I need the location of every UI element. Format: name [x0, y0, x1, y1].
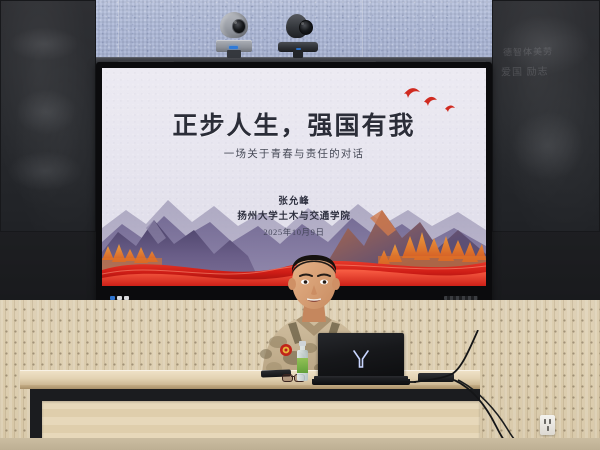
camera-mount-arm	[227, 50, 241, 58]
uniform-badge	[280, 344, 292, 356]
lecture-hall-scene: 德智体美劳 爱国 励志	[0, 0, 600, 450]
left-blackboard	[0, 0, 96, 232]
floor-strip	[0, 438, 600, 450]
slide-subtitle: 一场关于青春与责任的对话	[102, 146, 486, 161]
chalk-smudge	[511, 111, 585, 181]
chalk-line: 爱国 励志	[501, 63, 549, 79]
slide-affiliation: 扬州大学土木与交通学院	[102, 208, 486, 222]
camera-head	[286, 14, 308, 38]
chalk-smudge	[7, 151, 83, 191]
lens-glint	[234, 21, 237, 24]
camera-head	[220, 12, 248, 38]
outlet-slot	[544, 419, 546, 424]
slide-date: 2025年10月9日	[102, 226, 486, 238]
chalk-smudge	[9, 27, 79, 61]
wall-panel-seam	[362, 0, 363, 57]
wall-panel-seam	[118, 0, 119, 57]
outlet-slot	[547, 426, 549, 431]
slide-speaker-name: 张允峰	[102, 193, 486, 207]
black-ptz-camera[interactable]	[278, 14, 318, 58]
camera-mount-arm	[293, 50, 303, 58]
slide-title: 正步人生，强国有我	[102, 106, 486, 142]
wall-outlet[interactable]	[540, 415, 555, 435]
laptop[interactable]	[314, 333, 408, 387]
chalk-line: 德智体美劳	[503, 44, 553, 58]
silver-ptz-camera[interactable]	[216, 12, 252, 58]
laptop-lid	[318, 333, 404, 378]
laptop-base-deck	[312, 379, 410, 385]
bottle-label	[297, 358, 308, 373]
outlet-slot	[549, 419, 551, 424]
right-blackboard: 德智体美劳 爱国 励志	[492, 0, 600, 232]
laptop-y-logo-icon	[353, 350, 369, 368]
water-bottle[interactable]	[297, 341, 308, 381]
lens-glint	[301, 22, 304, 25]
chalk-smudge	[15, 89, 77, 135]
camera-status-led	[229, 46, 238, 49]
